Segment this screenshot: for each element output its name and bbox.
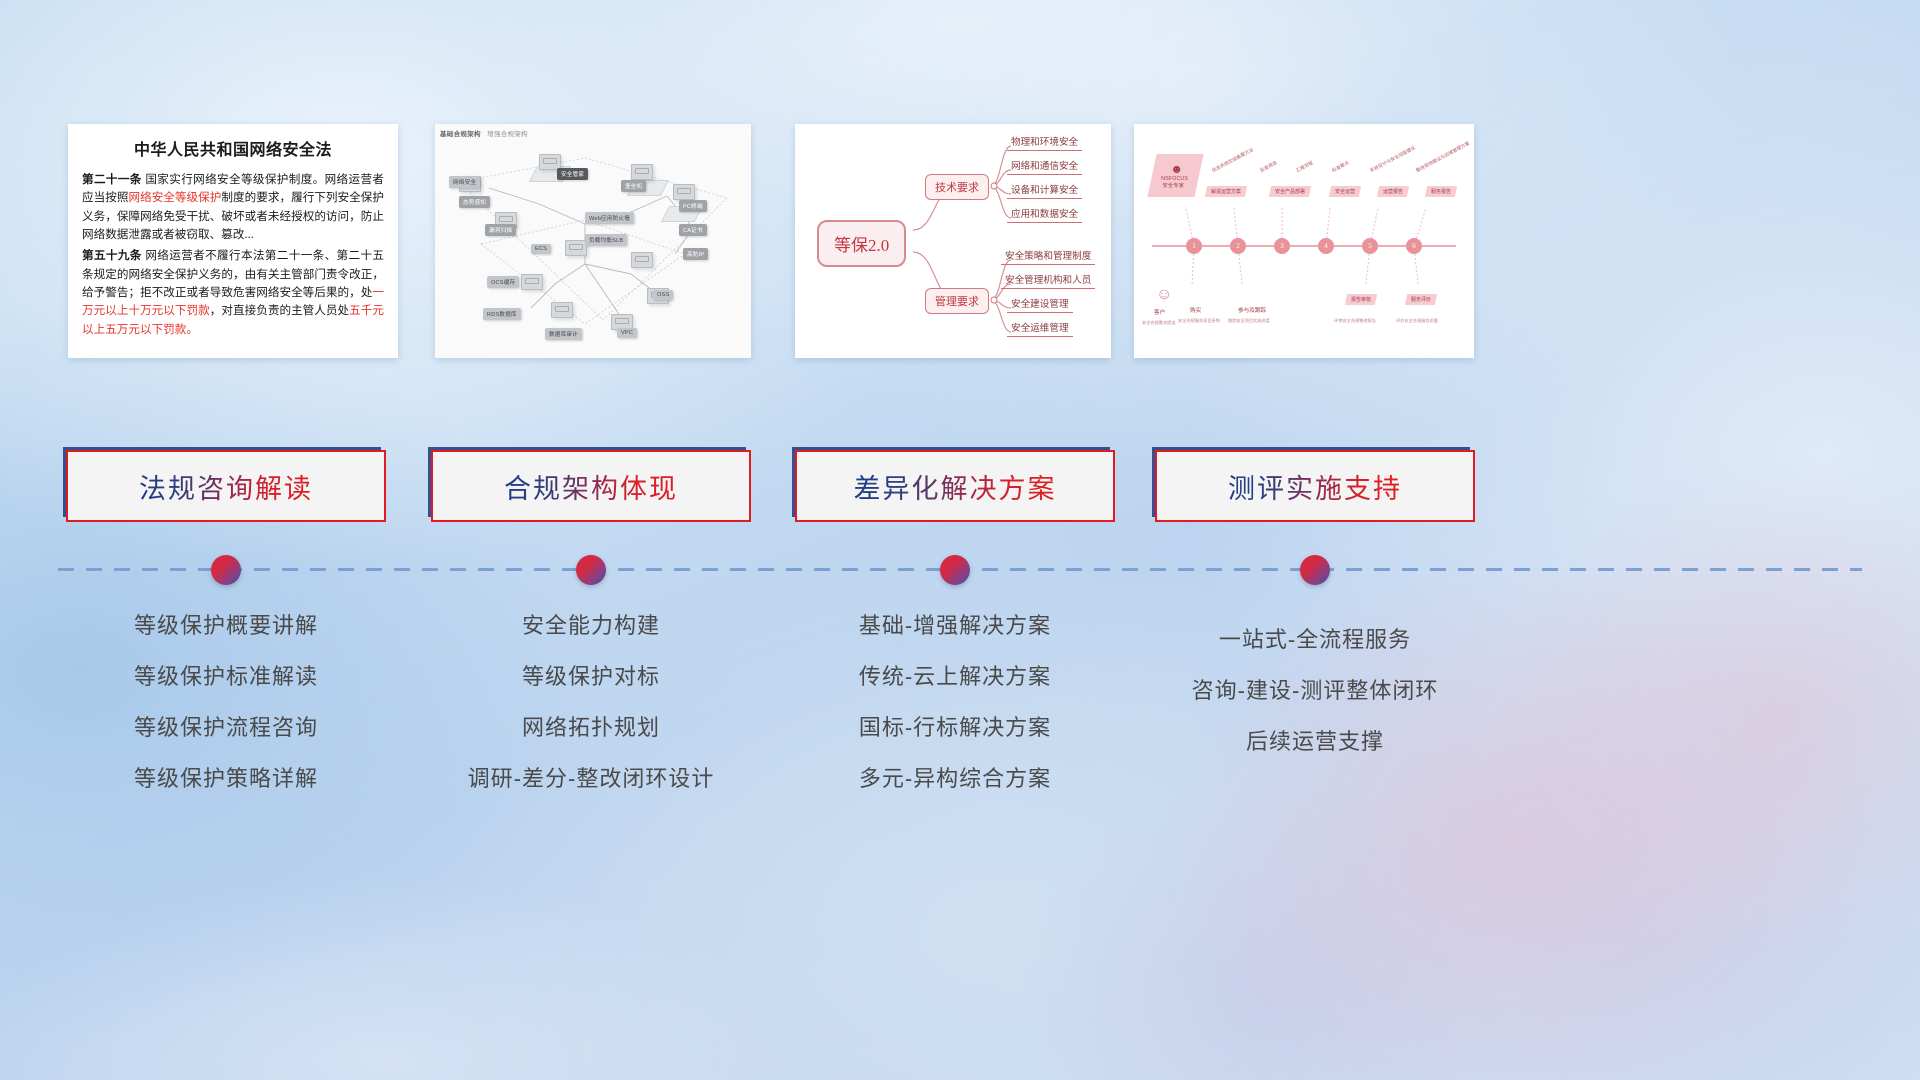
detail-item: 多元-异构综合方案 [795, 753, 1115, 804]
law-article-21-highlight: 网络安全等级保护 [128, 191, 221, 204]
heading-label-4: 测评实施支持 [1228, 467, 1402, 506]
node-label-waf: Web应用防火墙 [585, 212, 634, 224]
roadmap-step-4: 4 [1318, 238, 1334, 254]
node-label-situational: 态势感知 [459, 196, 490, 208]
law-article-21: 第二十一条 国家实行网络安全等级保护制度。网络运营者应当按照网络安全等级保护制度… [82, 171, 384, 244]
mindmap-diagram: 等保2.0 技术要求 管理要求 物理和环境安全 网络和通信安全 设备和计算安全 … [795, 124, 1111, 358]
roadmap-brand-sub: 安全专家 [1160, 182, 1187, 189]
card-mindmap-dengbao[interactable]: 等保2.0 技术要求 管理要求 物理和环境安全 网络和通信安全 设备和计算安全 … [795, 124, 1111, 358]
node-label-security-butler: 安全管家 [557, 168, 588, 180]
detail-item: 咨询-建设-测评整体闭环 [1155, 665, 1475, 716]
detail-column-4: 一站式-全流程服务 咨询-建设-测评整体闭环 后续运营支撑 [1155, 600, 1475, 767]
detail-item: 一站式-全流程服务 [1155, 614, 1475, 665]
law-article-59-label: 第五十九条 [82, 249, 142, 262]
detail-item: 基础-增强解决方案 [795, 600, 1115, 651]
customer-item-2-sub: 跟踪安全项目实施进度 [1228, 318, 1270, 324]
node-label-ca-cert: CA证书 [679, 224, 707, 236]
node-label-db-audit: 数据库审计 [545, 328, 582, 340]
mindmap-branch-technical: 技术要求 [925, 174, 989, 200]
node-label-rds: RDS数据库 [483, 308, 521, 320]
node-cube-9 [551, 302, 573, 318]
law-title: 中华人民共和国网络安全法 [82, 136, 384, 160]
card-service-roadmap[interactable]: ☻ NSFOCUS 安全专家 信息系统定级备案方法 反查测选 汇报流程 检查要点… [1134, 124, 1474, 358]
detail-column-row: 等级保护概要讲解 等级保护标准解读 等级保护流程咨询 等级保护策略详解 安全能力… [0, 600, 1920, 830]
roadmap-stage-5: 服务报告 [1425, 186, 1457, 197]
heading-row: 法规咨询解读 合规架构体现 差异化解决方案 测评实施支持 [0, 450, 1920, 522]
node-label-vuln-scan: 漏洞扫描 [485, 224, 516, 236]
timeline [0, 555, 1920, 585]
detail-item: 调研-差分-整改闭环设计 [431, 753, 751, 804]
detail-column-2: 安全能力构建 等级保护对标 网络拓扑规划 调研-差分-整改闭环设计 [431, 600, 751, 804]
heading-box-differentiated-solution[interactable]: 差异化解决方案 [795, 450, 1115, 522]
node-cube-6 [565, 240, 587, 256]
node-cube-7 [631, 252, 653, 268]
mindmap-root: 等保2.0 [817, 220, 906, 267]
customer-item-3-chip: 报告审核 [1345, 294, 1377, 305]
detail-item: 等级保护策略详解 [66, 753, 386, 804]
node-label-oss: OSS [653, 290, 673, 300]
customer-item-1-title: 购买 [1190, 306, 1201, 314]
detail-column-3: 基础-增强解决方案 传统-云上解决方案 国标-行标解决方案 多元-异构综合方案 [795, 600, 1115, 804]
node-label-network-security: 网络安全 [449, 176, 480, 188]
roadmap-step-1: 1 [1186, 238, 1202, 254]
law-document: 中华人民共和国网络安全法 第二十一条 国家实行网络安全等级保护制度。网络运营者应… [68, 124, 398, 350]
roadmap-stage-1: 解说运营方案 [1205, 186, 1247, 197]
customer-item-4-sub: 评价安全合规服务质量 [1396, 318, 1438, 324]
card-cloud-architecture[interactable]: 基础合规架构 增强合规架构 [435, 124, 751, 358]
detail-item: 等级保护概要讲解 [66, 600, 386, 651]
timeline-dot-2[interactable] [576, 555, 606, 585]
detail-item: 传统-云上解决方案 [795, 651, 1115, 702]
node-cube-3 [631, 164, 653, 180]
detail-item: 国标-行标解决方案 [795, 702, 1115, 753]
detail-item: 安全能力构建 [431, 600, 751, 651]
timeline-dot-4[interactable] [1300, 555, 1330, 585]
roadmap-stage-3: 安全运营 [1329, 186, 1361, 197]
detail-item: 网络拓扑规划 [431, 702, 751, 753]
heading-label-3: 差异化解决方案 [854, 467, 1057, 506]
heading-box-compliance-architecture[interactable]: 合规架构体现 [431, 450, 751, 522]
detail-item: 等级保护流程咨询 [66, 702, 386, 753]
law-article-59: 第五十九条 网络运营者不履行本法第二十一条、第二十五条规定的网络安全保护义务的，… [82, 247, 384, 339]
customer-sub: 安全合规需求提出 [1142, 320, 1176, 326]
detail-column-1: 等级保护概要讲解 等级保护标准解读 等级保护流程咨询 等级保护策略详解 [66, 600, 386, 804]
mindmap-leaf-mgmt-2: 安全管理机构和人员 [1001, 272, 1095, 289]
mindmap-leaf-tech-4: 应用和数据安全 [1007, 206, 1082, 223]
node-cube-8 [521, 274, 543, 290]
customer-item-1-sub: 安全合规服务项目采购 [1178, 318, 1220, 324]
node-label-vpc: VPC [617, 328, 637, 338]
mindmap-leaf-mgmt-3: 安全建设管理 [1007, 296, 1073, 313]
customer-label: 客户 [1154, 308, 1165, 316]
detail-item: 等级保护标准解读 [66, 651, 386, 702]
roadmap-step-5: 5 [1362, 238, 1378, 254]
roadmap-brand-banner: ☻ NSFOCUS 安全专家 [1147, 154, 1203, 197]
node-label-slb: 负载均衡SLB [585, 234, 627, 246]
timeline-dot-3[interactable] [940, 555, 970, 585]
law-article-21-label: 第二十一条 [82, 173, 142, 186]
architecture-diagram: 基础合规架构 增强合规架构 [435, 124, 751, 358]
roadmap-step-6: 6 [1406, 238, 1422, 254]
roadmap-step-2: 2 [1230, 238, 1246, 254]
heading-label-1: 法规咨询解读 [139, 467, 313, 506]
node-label-anti-ddos: 高防IP [683, 248, 708, 260]
card-cybersecurity-law[interactable]: 中华人民共和国网络安全法 第二十一条 国家实行网络安全等级保护制度。网络运营者应… [68, 124, 398, 358]
customer-item-4-chip: 服务评价 [1405, 294, 1437, 305]
law-article-59-mid: ，对直接负责的主管人员处 [210, 304, 349, 317]
heading-label-2: 合规架构体现 [504, 467, 678, 506]
mindmap-branch-management: 管理要求 [925, 288, 989, 314]
heading-box-regulation-consulting[interactable]: 法规咨询解读 [66, 450, 386, 522]
node-label-pc-terminal: PC终端 [679, 200, 707, 212]
heading-box-assessment-support[interactable]: 测评实施支持 [1155, 450, 1475, 522]
customer-item-3-sub: 评审安全合规整改报告 [1334, 318, 1376, 324]
detail-item: 等级保护对标 [431, 651, 751, 702]
roadmap-stage-4: 运营报告 [1377, 186, 1409, 197]
customer-icon: ☺ [1156, 286, 1172, 304]
timeline-dot-1[interactable] [211, 555, 241, 585]
mindmap-leaf-tech-3: 设备和计算安全 [1007, 182, 1082, 199]
detail-item: 后续运营支撑 [1155, 716, 1475, 767]
mindmap-leaf-mgmt-4: 安全运维管理 [1007, 320, 1073, 337]
node-label-ecs: ECS [531, 244, 551, 254]
mindmap-leaf-tech-1: 物理和环境安全 [1007, 134, 1082, 151]
mindmap-leaf-tech-2: 网络和通信安全 [1007, 158, 1082, 175]
customer-item-2-title: 参与及跟踪 [1238, 306, 1266, 314]
node-label-ocs: OCS缓存 [487, 276, 519, 288]
roadmap-step-3: 3 [1274, 238, 1290, 254]
mindmap-leaf-mgmt-1: 安全策略和管理制度 [1001, 248, 1095, 265]
slide-stage: 中华人民共和国网络安全法 第二十一条 国家实行网络安全等级保护制度。网络运营者应… [0, 0, 1920, 1080]
roadmap-diagram: ☻ NSFOCUS 安全专家 信息系统定级备案方法 反查测选 汇报流程 检查要点… [1134, 124, 1474, 358]
node-cube-4 [673, 184, 695, 200]
thumbnail-card-row: 中华人民共和国网络安全法 第二十一条 国家实行网络安全等级保护制度。网络运营者应… [0, 124, 1920, 358]
roadmap-stage-2: 安全产品部署 [1269, 186, 1311, 197]
roadmap-brand-icon: ☻ [1163, 162, 1190, 176]
node-label-bastion: 堡垒机 [621, 180, 646, 192]
